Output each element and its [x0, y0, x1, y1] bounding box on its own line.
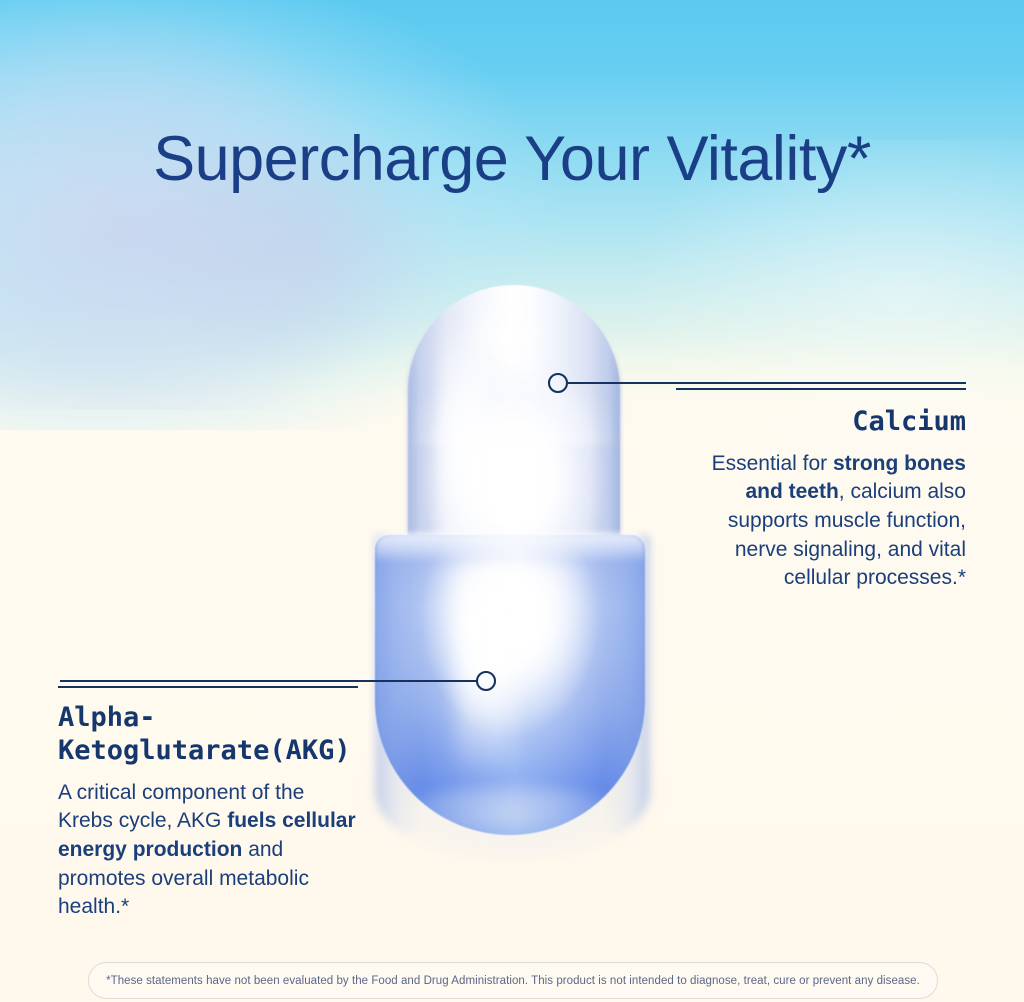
capsule-body-inner-arc — [412, 565, 608, 795]
disclaimer-box: *These statements have not been evaluate… — [88, 962, 938, 999]
callout-akg: Alpha- Ketoglutarate(AKG) A critical com… — [58, 686, 358, 922]
capsule-graphic — [340, 265, 685, 855]
capsule-body-edge-left — [375, 535, 421, 835]
callout-body-akg: A critical component of the Krebs cycle,… — [58, 779, 358, 922]
callout-title-akg-line1: Alpha- — [58, 702, 358, 735]
disclaimer-text: *These statements have not been evaluate… — [106, 975, 920, 987]
hero-banner: Supercharge Your Vitality* Calcium Essen… — [0, 0, 1024, 1002]
callout-body-calcium: Essential for strong bones and teeth, ca… — [676, 450, 966, 593]
callout-title-calcium: Calcium — [676, 406, 966, 439]
callout-calcium: Calcium Essential for strong bones and t… — [676, 388, 966, 593]
callout-title-akg: Alpha- Ketoglutarate(AKG) — [58, 702, 358, 768]
capsule-body-edge-right — [604, 535, 650, 835]
callout-rule-calcium — [676, 388, 966, 390]
callout-rule-akg — [58, 686, 358, 688]
capsule-body-lip — [375, 533, 645, 563]
capsule-body-foot-glow — [395, 785, 625, 855]
page-title: Supercharge Your Vitality* — [0, 125, 1024, 194]
capsule-body-gloss — [458, 557, 510, 782]
callout-title-akg-line2: Ketoglutarate(AKG) — [58, 735, 358, 768]
